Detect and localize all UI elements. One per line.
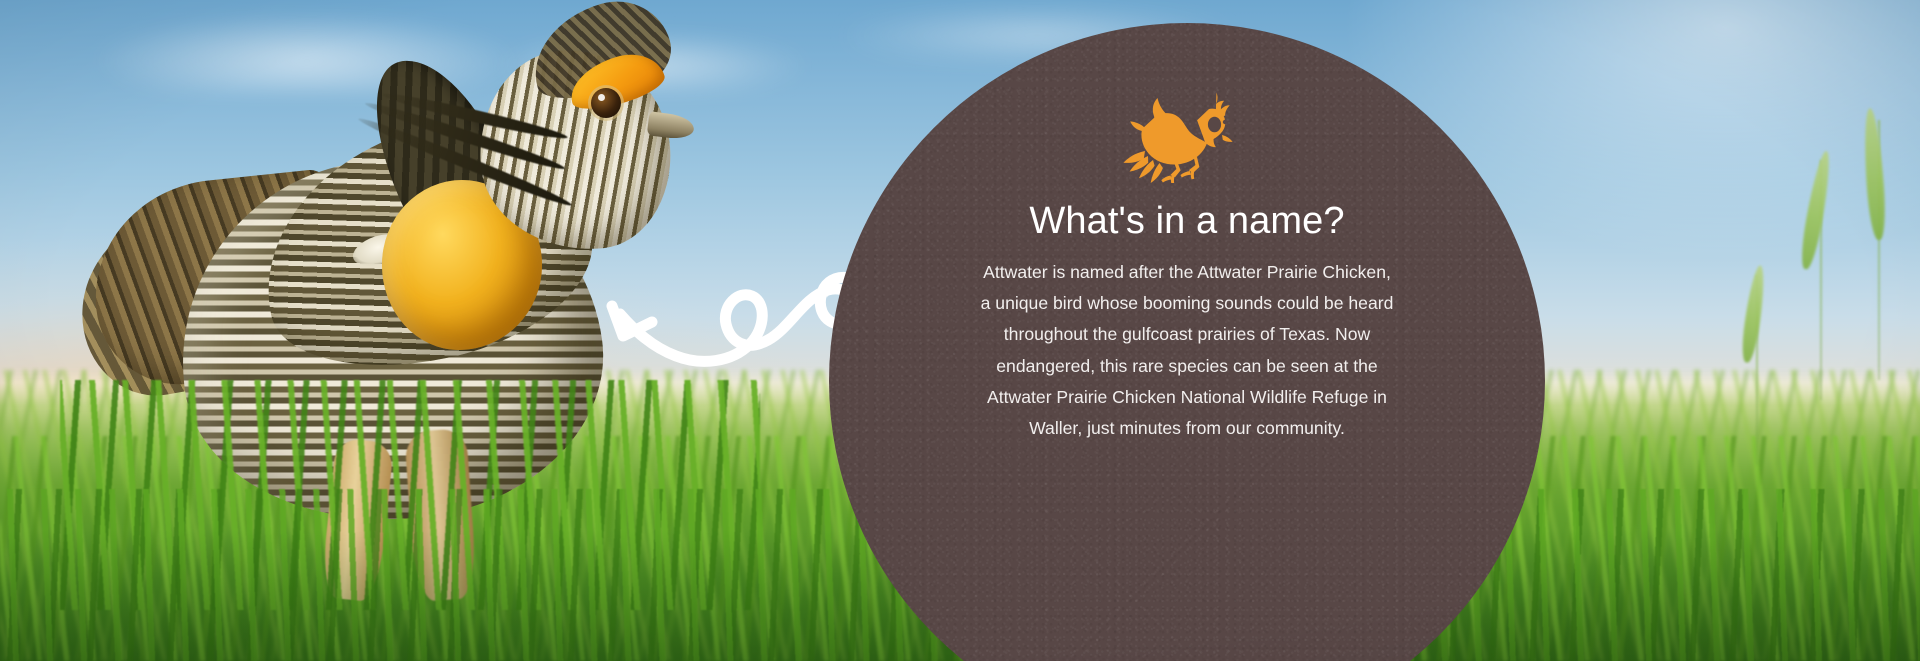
- prairie-chicken-photo: [60, 10, 680, 570]
- bird-eye: [591, 88, 621, 118]
- card-body-text: Attwater is named after the Attwater Pra…: [977, 257, 1397, 445]
- prairie-chicken-icon: [1121, 91, 1253, 183]
- card-content: What's in a name? Attwater is named afte…: [977, 91, 1397, 445]
- hero-banner: What's in a name? Attwater is named afte…: [0, 0, 1920, 661]
- card-title: What's in a name?: [977, 201, 1397, 243]
